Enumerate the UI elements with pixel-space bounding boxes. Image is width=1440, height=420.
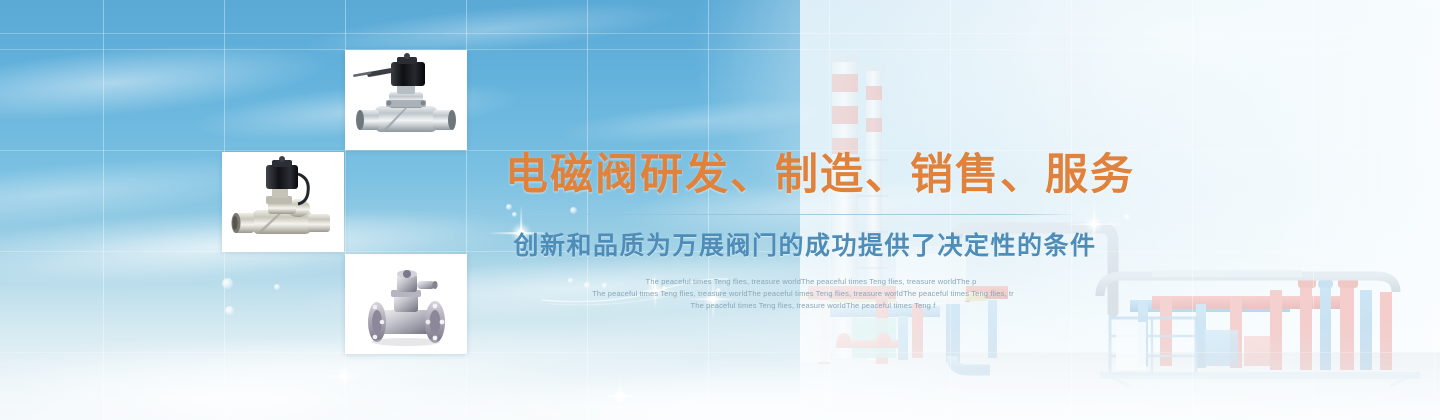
threaded-solenoid-valve-black-coil-image — [345, 50, 467, 150]
threaded-solenoid-valve-brass-body-image — [222, 152, 344, 252]
microcopy-line-1: The peaceful times Teng flies, treasure … — [511, 276, 1111, 288]
product-tile-1[interactable] — [345, 50, 467, 150]
microcopy-block: The peaceful times Teng flies, treasure … — [505, 276, 1105, 313]
product-tile-2[interactable] — [222, 152, 344, 252]
microcopy-line-2: The peaceful times Teng flies, treasure … — [503, 288, 1103, 300]
hero-banner: 电磁阀研发、制造、销售、服务 创新和品质为万展阀门的成功提供了决定性的条件 Th… — [0, 0, 1440, 420]
page-subtitle: 创新和品质为万展阀门的成功提供了决定性的条件 — [505, 226, 1105, 262]
flanged-solenoid-valve-image — [345, 254, 467, 354]
title-divider — [531, 214, 1079, 215]
hero-copy: 电磁阀研发、制造、销售、服务 创新和品质为万展阀门的成功提供了决定性的条件 Th… — [505, 150, 1105, 313]
product-tile-3[interactable] — [345, 254, 467, 354]
microcopy-line-3: The peaceful times Teng flies, treasure … — [513, 300, 1113, 312]
page-title: 电磁阀研发、制造、销售、服务 — [505, 150, 1105, 201]
